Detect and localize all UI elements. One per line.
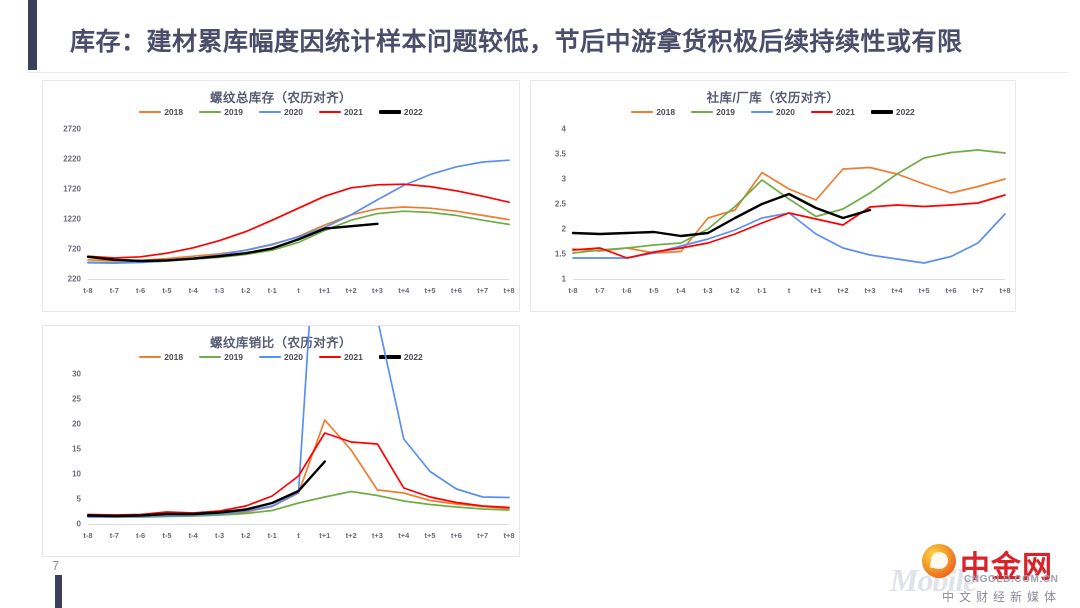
legend-label: 2021 [836,107,855,117]
x-axis-tick-label: t [297,531,300,540]
legend-swatch-icon [379,355,401,358]
x-axis-tick-label: t-5 [162,286,171,295]
legend-label: 2022 [404,107,423,117]
x-axis-tick-label: t+3 [372,531,383,540]
series-line-2020 [88,160,509,263]
x-axis-tick-label: t+6 [451,286,462,295]
x-axis-tick-label: t+1 [319,286,330,295]
x-axis-tick-label: t-3 [215,286,224,295]
y-axis-tick-label: 3.5 [522,150,566,159]
legend-item-2022: 2022 [379,107,423,117]
legend-label: 2021 [344,352,363,362]
legend-item-2020: 2020 [259,352,303,362]
chart-legend: 20182019202020212022 [43,352,519,362]
chart-lines [573,129,1005,279]
x-axis-tick-label: t-4 [189,531,198,540]
cngold-logo-icon [922,544,956,578]
x-axis-tick-label: t-5 [162,531,171,540]
chart-card-total-rebar-inventory: 螺纹总库存（农历对齐） 20182019202020212022 2207201… [42,80,520,312]
legend-item-2019: 2019 [199,352,243,362]
x-axis-tick-label: t+2 [346,531,357,540]
watermark-tagline: 中文财经新媒体 [942,588,1061,605]
x-axis-tick-label: t-8 [568,286,577,295]
legend-swatch-icon [691,111,713,113]
chart-legend: 20182019202020212022 [531,107,1015,117]
legend-item-2018: 2018 [631,107,675,117]
y-axis-tick-label: 4 [522,125,566,134]
x-axis-tick-label: t-4 [676,286,685,295]
legend-item-2021: 2021 [811,107,855,117]
x-axis-tick-label: t [788,286,791,295]
legend-item-2018: 2018 [139,107,183,117]
chart-card-rebar-inventory-sales-ratio: 螺纹库销比（农历对齐） 20182019202020212022 0510152… [42,325,520,557]
series-line-2018 [88,420,509,517]
x-axis-tick-label: t-8 [83,286,92,295]
legend-label: 2022 [896,107,915,117]
title-divider [28,72,1068,73]
watermark: Mobile 中金网 CNGOLD.COM.CN 中文财经新媒体 [900,540,1080,608]
chart-title: 螺纹库销比（农历对齐） [43,332,519,351]
series-line-2022 [88,224,377,261]
x-axis-tick-label: t-2 [241,531,250,540]
legend-item-2021: 2021 [319,352,363,362]
x-axis-tick-label: t-1 [268,531,277,540]
chart-lines [88,129,509,279]
y-axis-tick-label: 3 [522,175,566,184]
legend-swatch-icon [751,111,773,113]
x-axis-tick-label: t-2 [241,286,250,295]
legend-swatch-icon [139,111,161,113]
y-axis-tick-label: 30 [37,370,81,379]
x-axis-tick-label: t-2 [730,286,739,295]
chart-title: 螺纹总库存（农历对齐） [43,87,519,106]
legend-label: 2019 [716,107,735,117]
legend-label: 2020 [284,352,303,362]
x-axis-tick-label: t-6 [136,286,145,295]
legend-swatch-icon [319,356,341,358]
y-axis-tick-label: 25 [37,395,81,404]
legend-item-2019: 2019 [691,107,735,117]
legend-label: 2019 [224,107,243,117]
x-axis-tick-label: t-3 [215,531,224,540]
legend-label: 2020 [284,107,303,117]
x-axis-tick-label: t+5 [425,531,436,540]
x-axis-tick-label: t+4 [398,531,409,540]
legend-swatch-icon [319,111,341,113]
x-axis-tick-label: t-6 [136,531,145,540]
x-axis-tick-label: t+7 [972,286,983,295]
legend-item-2018: 2018 [139,352,183,362]
legend-label: 2021 [344,107,363,117]
legend-swatch-icon [631,111,653,113]
slide: 库存：建材累库幅度因统计样本问题较低，节后中游拿货积极后续持续性或有限 螺纹总库… [0,0,1080,608]
x-axis-tick-label: t+2 [837,286,848,295]
x-axis-tick-label: t-1 [268,286,277,295]
chart-plot-area [88,374,509,524]
chart-card-social-vs-mill-inventory: 社库/厂库（农历对齐） 20182019202020212022 11.522.… [530,80,1016,312]
y-axis-tick-label: 2720 [37,125,81,134]
x-axis-tick-label: t-3 [703,286,712,295]
legend-swatch-icon [379,110,401,113]
x-axis-tick-label: t+8 [503,286,514,295]
legend-label: 2018 [656,107,675,117]
series-line-2022 [573,194,870,236]
x-axis-tick-label: t+4 [891,286,902,295]
x-axis-tick-label: t+5 [918,286,929,295]
title-accent-bar [28,0,37,70]
x-axis-tick-label: t-7 [110,286,119,295]
y-axis-tick-label: 10 [37,470,81,479]
x-axis-tick-label: t+6 [451,531,462,540]
y-axis-tick-label: 720 [37,245,81,254]
legend-swatch-icon [139,356,161,358]
legend-swatch-icon [259,111,281,113]
x-axis-tick-label: t+7 [477,286,488,295]
legend-label: 2018 [164,107,183,117]
y-axis-tick-label: 20 [37,420,81,429]
page-number: 7 [52,558,59,573]
x-axis-tick-label: t-5 [649,286,658,295]
x-axis-tick-label: t+8 [999,286,1010,295]
y-axis-tick-label: 1.5 [522,250,566,259]
series-line-2021 [573,195,1005,258]
legend-label: 2019 [224,352,243,362]
legend-swatch-icon [199,356,221,358]
chart-legend: 20182019202020212022 [43,107,519,117]
series-line-2022 [88,462,325,517]
y-axis-tick-label: 1220 [37,215,81,224]
x-axis-tick-label: t [297,286,300,295]
x-axis-tick-label: t+3 [372,286,383,295]
y-axis-tick-label: 5 [37,495,81,504]
watermark-url: CNGOLD.COM.CN [964,574,1058,585]
x-axis-tick-label: t-6 [622,286,631,295]
legend-item-2019: 2019 [199,107,243,117]
series-line-2019 [573,150,1005,253]
chart-lines [88,374,509,524]
legend-swatch-icon [811,111,833,113]
series-line-2021 [88,184,509,258]
y-axis-tick-label: 220 [37,275,81,284]
x-axis-tick-label: t+5 [425,286,436,295]
x-axis-line [88,524,509,525]
page-number-accent-bar [55,575,62,608]
x-axis-tick-label: t-1 [757,286,766,295]
legend-label: 2022 [404,352,423,362]
legend-label: 2020 [776,107,795,117]
y-axis-tick-label: 1 [522,275,566,284]
legend-swatch-icon [199,111,221,113]
x-axis-line [573,279,1005,280]
legend-item-2020: 2020 [751,107,795,117]
chart-plot-area [573,129,1005,279]
series-line-2018 [573,168,1005,254]
legend-label: 2018 [164,352,183,362]
legend-item-2020: 2020 [259,107,303,117]
x-axis-line [88,279,509,280]
y-axis-tick-label: 0 [37,520,81,529]
legend-item-2021: 2021 [319,107,363,117]
x-axis-tick-label: t+7 [477,531,488,540]
x-axis-tick-label: t+6 [945,286,956,295]
legend-item-2022: 2022 [871,107,915,117]
legend-swatch-icon [259,356,281,358]
y-axis-tick-label: 2220 [37,155,81,164]
x-axis-tick-label: t+1 [319,531,330,540]
x-axis-tick-label: t-4 [189,286,198,295]
x-axis-tick-label: t-8 [83,531,92,540]
y-axis-tick-label: 15 [37,445,81,454]
y-axis-tick-label: 2 [522,225,566,234]
x-axis-tick-label: t+2 [346,286,357,295]
x-axis-tick-label: t-7 [595,286,604,295]
x-axis-tick-label: t+8 [503,531,514,540]
x-axis-tick-label: t-7 [110,531,119,540]
y-axis-tick-label: 1720 [37,185,81,194]
x-axis-tick-label: t+3 [864,286,875,295]
chart-plot-area [88,129,509,279]
x-axis-tick-label: t+1 [810,286,821,295]
y-axis-tick-label: 2.5 [522,200,566,209]
legend-swatch-icon [871,110,893,113]
page-title: 库存：建材累库幅度因统计样本问题较低，节后中游拿货积极后续持续性或有限 [70,22,963,58]
x-axis-tick-label: t+4 [398,286,409,295]
chart-title: 社库/厂库（农历对齐） [531,87,1015,106]
series-line-2018 [88,207,509,261]
